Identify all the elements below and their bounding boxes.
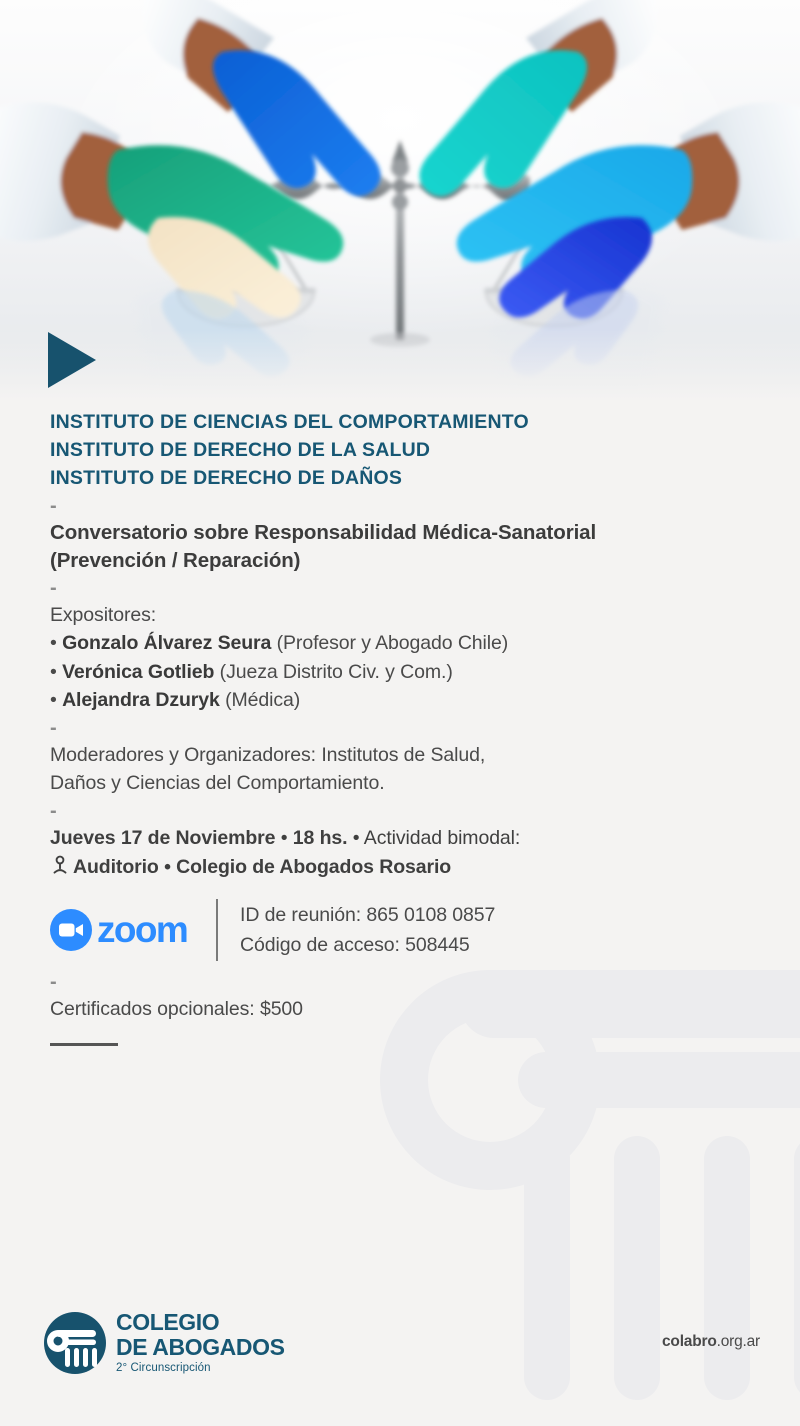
zoom-passcode: Código de acceso: 508445 [240,930,495,960]
zoom-divider [216,899,218,961]
bottom-rule [50,1043,118,1046]
footer-name-line-1: COLEGIO [116,1310,285,1335]
footer-name-line-3: 2° Circunscripción [116,1361,285,1376]
speaker-bullet: • [50,632,57,654]
speaker-item-3: • Alejandra Dzuryk (Médica) [50,686,750,715]
event-date: Jueves 17 de Noviembre [50,827,275,849]
event-title-line-1: Conversatorio sobre Responsabilidad Médi… [50,519,750,547]
zoom-camera-icon [50,909,92,951]
speaker-name: Verónica Gotlieb [62,661,214,683]
zoom-meeting-id: ID de reunión: 865 0108 0857 [240,900,495,930]
location-pin-person-icon [50,855,70,885]
poster-footer: COLEGIO DE ABOGADOS 2° Circunscripción c… [0,1300,800,1400]
event-sep-2: • [347,827,363,849]
speaker-name: Gonzalo Álvarez Seura [62,632,271,654]
zoom-access-block: zoom ID de reunión: 865 0108 0857 Código… [50,899,750,961]
organizers-line-2: Daños y Ciencias del Comportamiento. [50,769,750,798]
play-triangle-icon [48,332,96,388]
website-bold: colabro [662,1333,717,1350]
separator-dash-3: - [50,715,750,741]
institute-line-1: INSTITUTO DE CIENCIAS DEL COMPORTAMIENTO [50,408,750,436]
event-venue: Auditorio • Colegio de Abogados Rosario [73,856,451,878]
poster-content: INSTITUTO DE CIENCIAS DEL COMPORTAMIENTO… [50,408,750,1046]
speaker-bullet: • [50,661,57,683]
zoom-logo: zoom [50,909,210,951]
event-time: 18 hs. [293,827,348,849]
separator-dash-1: - [50,493,750,519]
speaker-item-2: • Verónica Gotlieb (Jueza Distrito Civ. … [50,658,750,687]
separator-dash-5: - [50,969,750,995]
separator-dash-4: - [50,798,750,824]
speaker-role: (Médica) [225,689,300,711]
speaker-item-1: • Gonzalo Álvarez Seura (Profesor y Abog… [50,629,750,658]
event-sep-1: • [275,827,292,849]
poster-root: INSTITUTO DE CIENCIAS DEL COMPORTAMIENTO… [0,0,800,1426]
event-datetime: Jueves 17 de Noviembre • 18 hs. • Activi… [50,824,750,853]
event-title-line-2: (Prevención / Reparación) [50,547,750,575]
speaker-bullet: • [50,689,57,711]
institute-line-3: INSTITUTO DE DERECHO DE DAÑOS [50,464,750,492]
website-rest: .org.ar [717,1333,760,1350]
hero-illustration [0,0,800,400]
event-venue-line: Auditorio • Colegio de Abogados Rosario [50,853,750,885]
certificates-text: Certificados opcionales: $500 [50,995,750,1024]
institute-line-2: INSTITUTO DE DERECHO DE LA SALUD [50,436,750,464]
speaker-name: Alejandra Dzuryk [62,689,220,711]
speaker-role: (Profesor y Abogado Chile) [277,632,509,654]
speaker-role: (Jueza Distrito Civ. y Com.) [220,661,453,683]
separator-dash-2: - [50,575,750,601]
zoom-wordmark: zoom [97,911,187,948]
zoom-credentials: ID de reunión: 865 0108 0857 Código de a… [240,900,495,960]
colegio-abogados-column-icon [44,1312,106,1374]
website-url[interactable]: colabro.org.ar [662,1333,760,1351]
colegio-abogados-logo[interactable]: COLEGIO DE ABOGADOS 2° Circunscripción [44,1310,285,1376]
speakers-heading: Expositores: [50,601,750,630]
footer-name-line-2: DE ABOGADOS [116,1335,285,1360]
hero-image [0,0,800,400]
footer-wordmark: COLEGIO DE ABOGADOS 2° Circunscripción [116,1310,285,1376]
organizers-line-1: Moderadores y Organizadores: Institutos … [50,741,750,770]
event-modality: Actividad bimodal: [364,827,520,849]
